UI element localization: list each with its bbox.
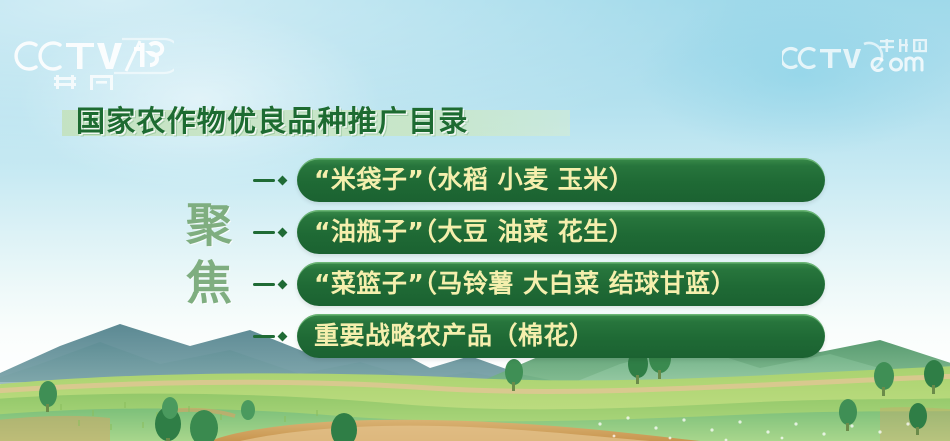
list-item[interactable]: “油瓶子”（大豆 油菜 花生）: [253, 210, 853, 254]
catalog-pill-text: 重要战略农产品（棉花）: [314, 314, 595, 358]
list-item[interactable]: 重要战略农产品（棉花）: [253, 314, 853, 358]
cctv13-news-logo: [14, 33, 174, 91]
page-title: 国家农作物优良品种推广目录: [62, 101, 469, 141]
catalog-list: “米袋子”（水稻 小麦 玉米） “油瓶子”（大豆 油菜 花生） “菜篮子”（马铃…: [253, 158, 853, 366]
bullet-marker-icon: [253, 158, 297, 202]
list-item[interactable]: “米袋子”（水稻 小麦 玉米）: [253, 158, 853, 202]
catalog-pill-text: “油瓶子”（大豆 油菜 花生）: [314, 210, 634, 254]
cctv-com-watermark: [782, 36, 942, 82]
catalog-pill[interactable]: 重要战略农产品（棉花）: [297, 314, 825, 358]
catalog-pill[interactable]: “菜篮子”（马铃薯 大白菜 结球甘蓝）: [297, 262, 825, 306]
focus-label: 聚 焦: [178, 196, 240, 312]
bullet-marker-icon: [253, 210, 297, 254]
bullet-marker-icon: [253, 262, 297, 306]
bullet-marker-icon: [253, 314, 297, 358]
catalog-pill-text: “米袋子”（水稻 小麦 玉米）: [314, 158, 634, 202]
list-item[interactable]: “菜篮子”（马铃薯 大白菜 结球甘蓝）: [253, 262, 853, 306]
catalog-pill[interactable]: “米袋子”（水稻 小麦 玉米）: [297, 158, 825, 202]
focus-char-2: 焦: [178, 254, 240, 312]
focus-char-1: 聚: [178, 196, 240, 254]
catalog-pill-text: “菜篮子”（马铃薯 大白菜 结球甘蓝）: [314, 262, 736, 306]
broadcast-frame: 国家农作物优良品种推广目录 聚 焦 “米袋子”（水稻 小麦 玉米） “油瓶子”（…: [0, 0, 950, 441]
title-text: 国家农作物优良品种推广目录: [76, 101, 469, 141]
catalog-pill[interactable]: “油瓶子”（大豆 油菜 花生）: [297, 210, 825, 254]
